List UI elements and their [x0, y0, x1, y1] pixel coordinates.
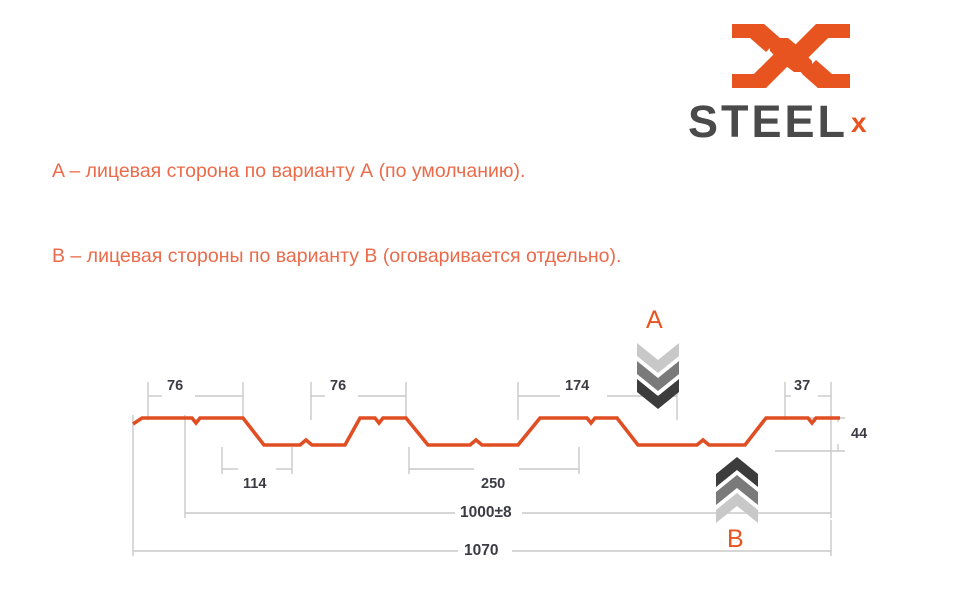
- dim-label-top-flange-left: 76: [167, 379, 183, 394]
- chevron-down-triple-icon: [637, 343, 679, 409]
- dim-label-total-width: 1070: [464, 543, 498, 559]
- dim-label-rib-pitch-174: 174: [565, 379, 589, 394]
- dim-label-top-flange-mid: 76: [330, 379, 346, 394]
- dim-label-useful-width: 1000±8: [460, 505, 512, 521]
- marker-b-label: B: [727, 527, 744, 552]
- dim-label-edge-flange-37: 37: [794, 379, 810, 394]
- marker-a-label: A: [646, 308, 663, 333]
- sheet-profile-polyline: [133, 418, 840, 445]
- technical-drawing-page: STEEL x A – лицевая сторона по варианту …: [0, 0, 970, 597]
- dim-label-bottom-flange-114: 114: [243, 477, 266, 492]
- dim-label-trough-pitch-250: 250: [481, 477, 505, 492]
- dim-label-profile-height-44: 44: [851, 427, 867, 442]
